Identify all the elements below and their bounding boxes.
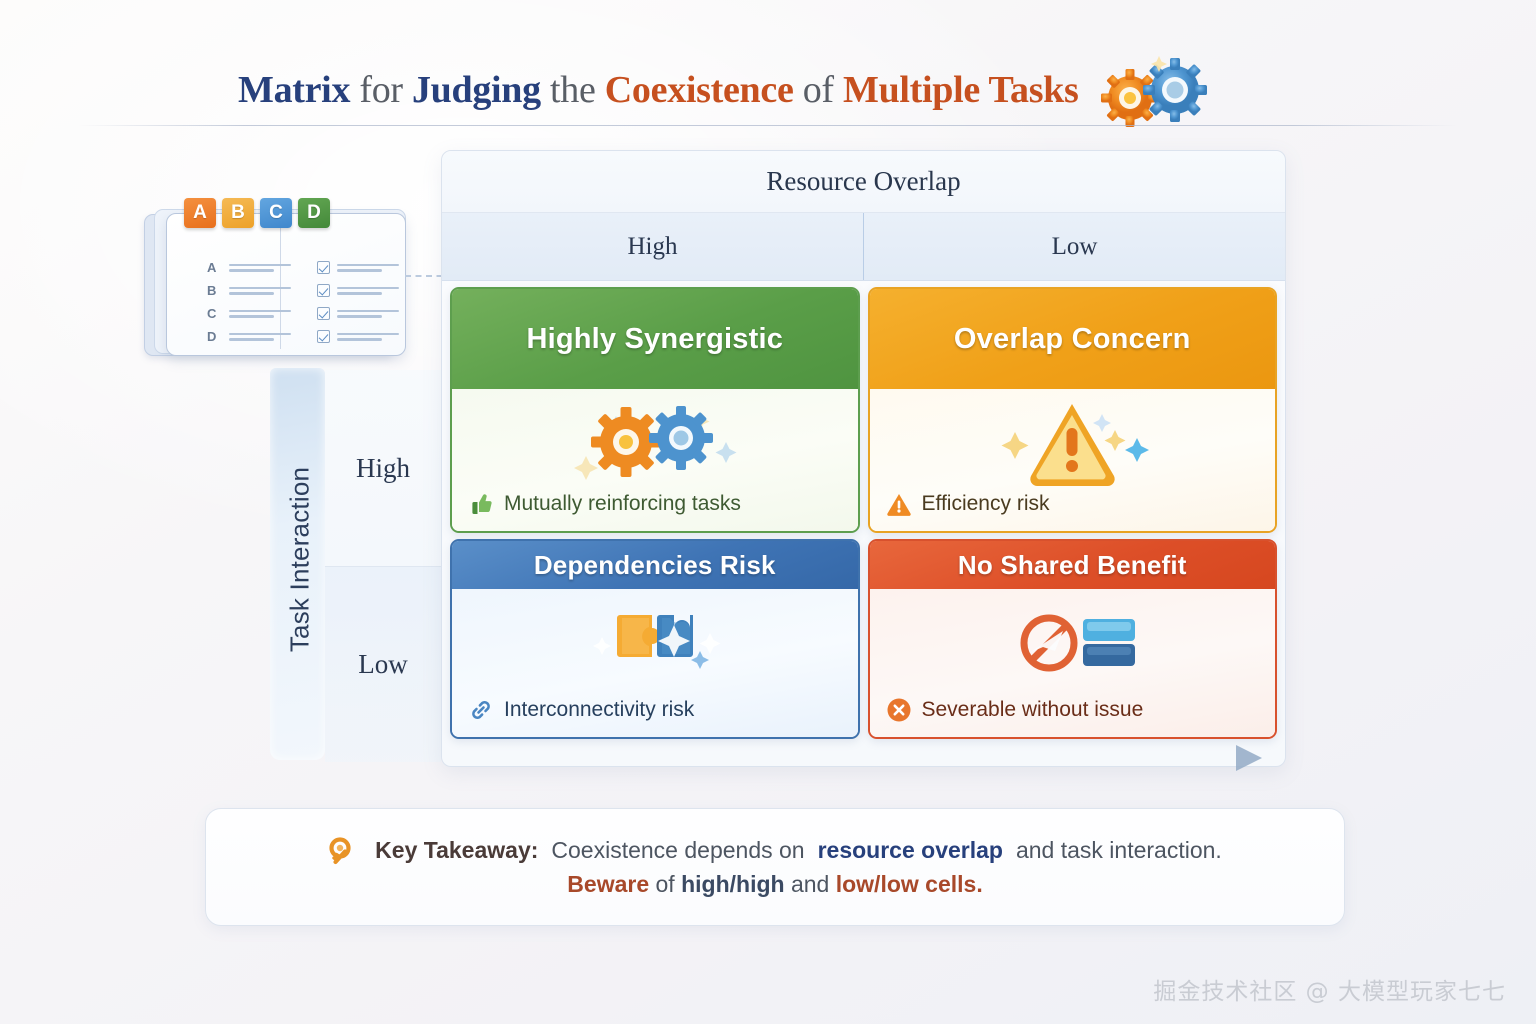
takeaway-text-3: of: [656, 871, 675, 897]
key-icon: [328, 837, 362, 865]
prohibition-blocks-icon: [870, 589, 1276, 697]
doc-text-lines: [229, 264, 291, 272]
doc-text-lines: [337, 287, 399, 295]
key-takeaway-box: Key Takeaway: Coexistence depends on res…: [205, 808, 1345, 926]
thumbs-up-icon: [468, 491, 494, 517]
takeaway-high-high: high/high: [681, 871, 784, 897]
doc-row-label: B: [207, 283, 221, 298]
warning-triangle-icon: [870, 389, 1276, 491]
title-word-for: for: [359, 69, 402, 111]
matrix-body: Highly Synergistic: [442, 281, 1285, 747]
cell-body: Mutually reinforcing tasks: [452, 389, 858, 531]
gears-icon: [1097, 52, 1215, 128]
matrix-row-high: Highly Synergistic: [450, 287, 1277, 533]
cell-title: No Shared Benefit: [870, 541, 1276, 589]
doc-row-label: C: [207, 306, 221, 321]
list-item: [317, 302, 399, 325]
list-item: [317, 256, 399, 279]
doc-text-lines: [229, 333, 291, 341]
matrix-cell-high-low[interactable]: Overlap Concern: [868, 287, 1278, 533]
cell-caption-row: Severable without issue: [870, 697, 1276, 737]
list-item: C: [207, 302, 291, 325]
takeaway-text-1: Coexistence depends on: [551, 837, 804, 864]
chain-link-icon: [468, 697, 494, 723]
cell-caption: Severable without issue: [922, 698, 1144, 722]
cell-body: Efficiency risk: [870, 389, 1276, 531]
cell-caption-row: Mutually reinforcing tasks: [452, 491, 858, 531]
list-item: [317, 325, 399, 348]
doc-tab-c: C: [260, 198, 292, 228]
cell-body: Severable without issue: [870, 589, 1276, 737]
takeaway-label: Key Takeaway:: [375, 837, 538, 864]
cell-caption: Efficiency risk: [922, 492, 1050, 516]
row-axis-title: Task Interaction: [285, 380, 316, 740]
column-header-high: High: [442, 213, 863, 280]
doc-text-lines: [337, 333, 399, 341]
circle-x-icon: [886, 697, 912, 723]
puzzle-pieces-icon: [452, 589, 858, 697]
doc-text-lines: [337, 310, 399, 318]
cell-caption: Mutually reinforcing tasks: [504, 492, 741, 516]
column-axis-title: Resource Overlap: [442, 151, 1285, 213]
doc-row-label: A: [207, 260, 221, 275]
doc-right-rows: [317, 256, 399, 348]
takeaway-text-4: and: [791, 871, 829, 897]
takeaway-low-low: low/low cells.: [836, 871, 983, 897]
title-word-the: the: [550, 69, 596, 111]
checkbox-icon: [317, 307, 330, 320]
cell-title: Highly Synergistic: [452, 289, 858, 389]
takeaway-line-2: Beware of high/high and low/low cells.: [567, 871, 982, 898]
title-word-judging: Judging: [412, 69, 541, 111]
doc-tab-a: A: [184, 198, 216, 228]
matrix-cell-low-high[interactable]: Dependencies Risk: [450, 539, 860, 739]
matrix-panel: Resource Overlap High Low Highly Synergi…: [441, 150, 1286, 767]
title-word-of: of: [803, 69, 834, 111]
two-gears-icon: [452, 389, 858, 491]
takeaway-text-2: and task interaction.: [1016, 837, 1222, 864]
task-list-illustration: A B C D A B C D: [140, 190, 420, 365]
watermark: 掘金技术社区 @ 大模型玩家七七: [1153, 972, 1506, 1006]
doc-row-label: D: [207, 329, 221, 344]
doc-sheet: A B C D: [166, 213, 406, 356]
column-header-low: Low: [863, 213, 1285, 280]
cell-caption-row: Interconnectivity risk: [452, 697, 858, 737]
warning-triangle-icon: [886, 491, 912, 517]
doc-tab-b: B: [222, 198, 254, 228]
list-item: B: [207, 279, 291, 302]
list-item: A: [207, 256, 291, 279]
title-word-coexistence: Coexistence: [605, 69, 794, 111]
row-header-low: Low: [325, 566, 441, 762]
takeaway-beware: Beware: [567, 871, 649, 897]
matrix-row-low: Dependencies Risk: [450, 539, 1277, 739]
doc-tab-d: D: [298, 198, 330, 228]
cell-title: Dependencies Risk: [452, 541, 858, 589]
title-word-multiple-tasks: Multiple Tasks: [843, 69, 1079, 111]
cell-caption-row: Efficiency risk: [870, 491, 1276, 531]
row-header-high: High: [325, 370, 441, 566]
takeaway-line-1: Key Takeaway: Coexistence depends on res…: [328, 837, 1222, 865]
doc-text-lines: [337, 264, 399, 272]
page-title: Matrix for Judging the Coexistence of Mu…: [238, 52, 1215, 128]
checkbox-icon: [317, 261, 330, 274]
doc-tab-strip: A B C D: [184, 198, 330, 228]
cell-body: Interconnectivity risk: [452, 589, 858, 737]
column-header-group: High Low: [442, 213, 1285, 281]
matrix-cell-low-low[interactable]: No Shared Benefit: [868, 539, 1278, 739]
title-word-matrix: Matrix: [238, 69, 350, 111]
row-axis-band: Task Interaction: [270, 368, 325, 760]
checkbox-icon: [317, 284, 330, 297]
title-divider: [78, 125, 1458, 126]
title-text: Matrix for Judging the Coexistence of Mu…: [238, 68, 1079, 112]
matrix-cell-high-high[interactable]: Highly Synergistic: [450, 287, 860, 533]
row-header-group: High Low: [325, 370, 441, 762]
list-item: D: [207, 325, 291, 348]
doc-text-lines: [229, 310, 291, 318]
doc-left-rows: A B C D: [207, 256, 291, 348]
cell-caption: Interconnectivity risk: [504, 698, 694, 722]
list-item: [317, 279, 399, 302]
takeaway-emphasis-resource-overlap: resource overlap: [818, 837, 1003, 864]
column-axis-arrow-icon: [1236, 745, 1262, 771]
checkbox-icon: [317, 330, 330, 343]
cell-title: Overlap Concern: [870, 289, 1276, 389]
doc-text-lines: [229, 287, 291, 295]
